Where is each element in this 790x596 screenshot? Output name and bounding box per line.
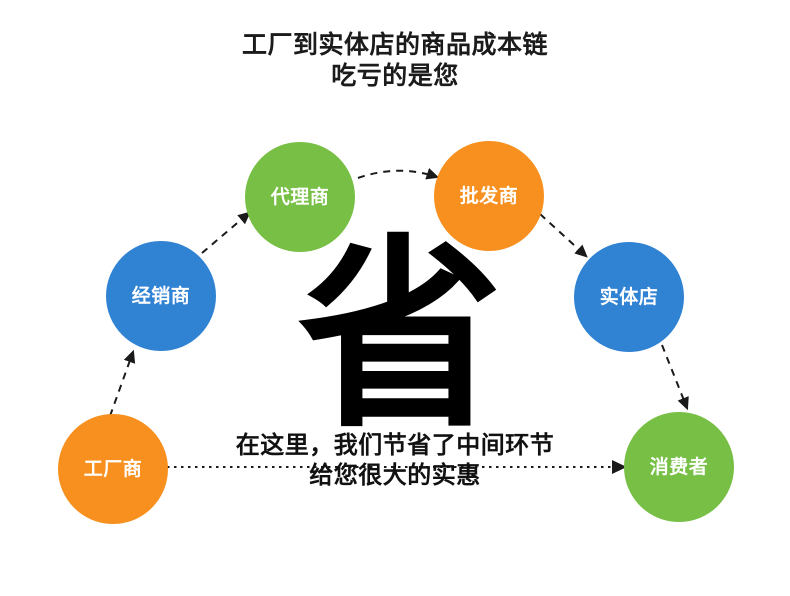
node-store-label: 实体店 (600, 288, 659, 307)
caption-line-2: 给您很大的实惠 (130, 460, 660, 490)
node-agent-label: 代理商 (271, 188, 330, 207)
arrow-agent-to-wholesaler (358, 171, 437, 178)
arrow-factory-to-dealer (110, 352, 133, 416)
node-wholesaler[interactable]: 批发商 (434, 141, 544, 251)
diagram-canvas: 工厂到实体店的商品成本链 吃亏的是您 省 工厂商 经销商 (0, 0, 790, 596)
caption-line-1: 在这里，我们节省了中间环节 (130, 430, 660, 460)
arrow-wholesaler-to-store (540, 214, 586, 256)
arrow-store-to-consumer (662, 345, 687, 408)
node-agent[interactable]: 代理商 (245, 142, 355, 252)
arrow-dealer-to-agent (202, 213, 249, 253)
bottom-caption: 在这里，我们节省了中间环节 给您很大的实惠 (130, 430, 660, 490)
node-store[interactable]: 实体店 (574, 242, 684, 352)
node-dealer[interactable]: 经销商 (106, 241, 216, 351)
node-wholesaler-label: 批发商 (460, 187, 519, 206)
node-dealer-label: 经销商 (132, 287, 191, 306)
